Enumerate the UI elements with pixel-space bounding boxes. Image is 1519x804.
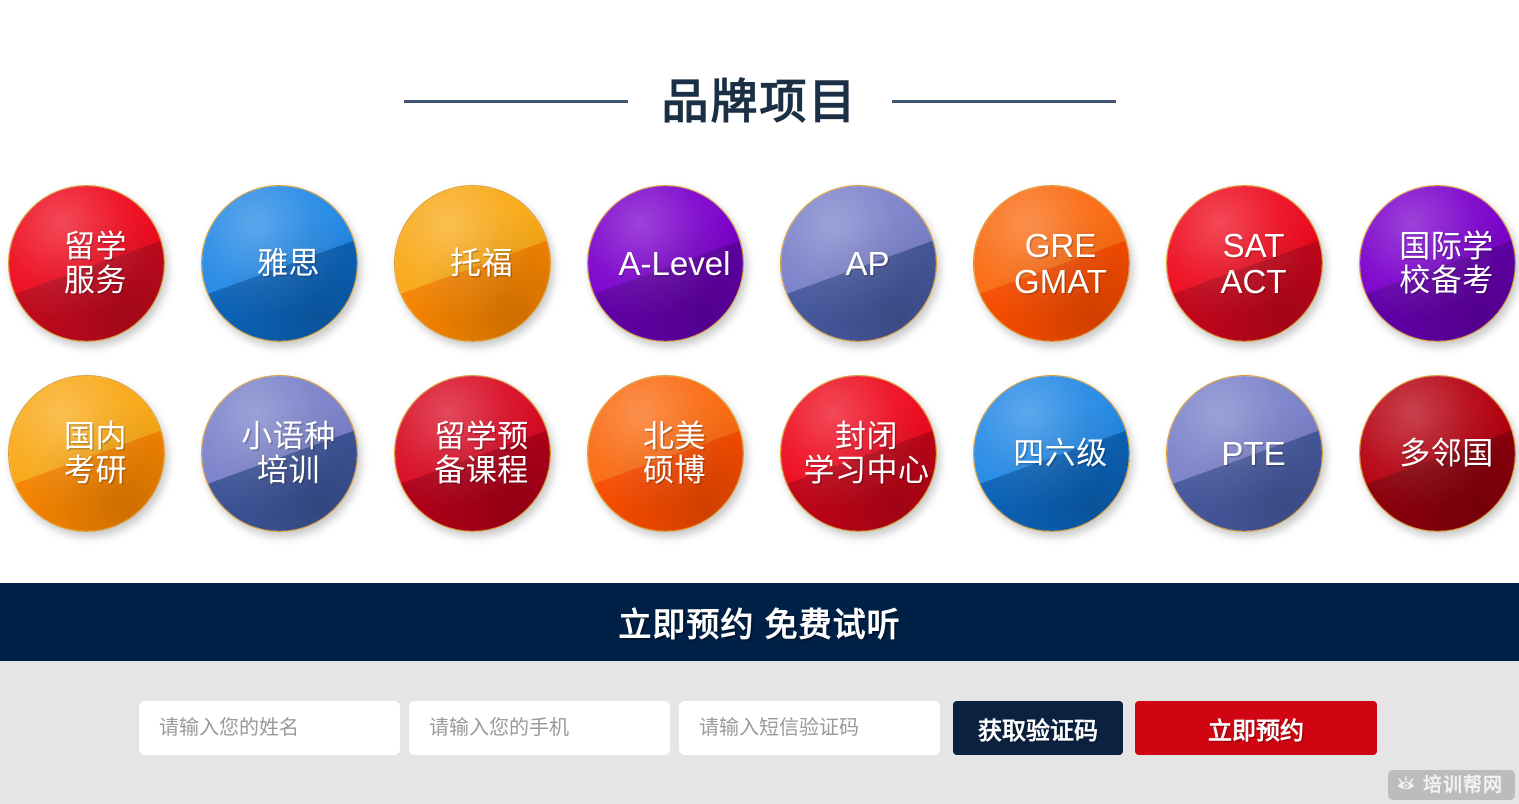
- program-cell: 留学 服务: [8, 185, 165, 375]
- site-watermark: 培训帮网: [1388, 770, 1515, 800]
- program-label: AP: [845, 246, 889, 282]
- program-circle-beimeishuobo[interactable]: 北美 硕博: [587, 375, 744, 532]
- program-label: 国际学 校备考: [1399, 230, 1494, 297]
- program-label: SAT ACT: [1221, 228, 1287, 299]
- program-circle-guoneikaoyan[interactable]: 国内 考研: [8, 375, 165, 532]
- program-label: 北美 硕博: [643, 420, 706, 487]
- program-row-2: 国内 考研 小语种 培训 留学预 备课程 北美 硕博: [8, 375, 1511, 565]
- program-label: 小语种 培训: [241, 420, 336, 487]
- phone-input[interactable]: [409, 701, 670, 755]
- submit-booking-button[interactable]: 立即预约: [1135, 701, 1377, 755]
- watermark-text: 培训帮网: [1423, 776, 1503, 795]
- program-cell: PTE: [1166, 375, 1323, 565]
- program-cell: 留学预 备课程: [394, 375, 551, 565]
- program-cell: 封闭 学习中心: [780, 375, 937, 565]
- program-label: 留学 服务: [64, 230, 127, 297]
- name-input[interactable]: [139, 701, 400, 755]
- program-circle-siliuji[interactable]: 四六级: [973, 375, 1130, 532]
- program-circle-tuofu[interactable]: 托福: [394, 185, 551, 342]
- program-cell: 四六级: [973, 375, 1130, 565]
- program-label: 四六级: [1013, 437, 1108, 470]
- program-cell: GRE GMAT: [973, 185, 1130, 375]
- booking-form-section: 获取验证码 立即预约: [0, 661, 1519, 804]
- cta-banner: 立即预约 免费试听: [0, 583, 1519, 661]
- program-circle-gre-gmat[interactable]: GRE GMAT: [973, 185, 1130, 342]
- eye-icon: [1396, 775, 1416, 795]
- program-circle-xiaoyuzhongpeixun[interactable]: 小语种 培训: [201, 375, 358, 532]
- program-grid: 留学 服务 雅思 托福 A-Level: [8, 185, 1511, 565]
- title-rule-right: [892, 100, 1116, 103]
- program-cell: 多邻国: [1359, 375, 1516, 565]
- program-cell: A-Level: [587, 185, 744, 375]
- program-cell: 国内 考研: [8, 375, 165, 565]
- program-cell: 北美 硕博: [587, 375, 744, 565]
- program-label: A-Level: [619, 246, 731, 282]
- booking-form: 获取验证码 立即预约: [139, 701, 1377, 755]
- program-circle-fengbixuexizhongxin[interactable]: 封闭 学习中心: [780, 375, 937, 532]
- program-circle-liuxueyubeikecheng[interactable]: 留学预 备课程: [394, 375, 551, 532]
- sms-code-input[interactable]: [679, 701, 940, 755]
- program-cell: AP: [780, 185, 937, 375]
- program-label: 国内 考研: [64, 420, 127, 487]
- program-circle-duolinguo[interactable]: 多邻国: [1359, 375, 1516, 532]
- program-label: PTE: [1221, 436, 1285, 472]
- program-cell: 国际学 校备考: [1359, 185, 1516, 375]
- program-label: 封闭 学习中心: [789, 420, 937, 487]
- program-circle-ap[interactable]: AP: [780, 185, 937, 342]
- page-title: 品牌项目: [628, 78, 892, 125]
- cta-banner-text: 立即预约 免费试听: [618, 598, 900, 646]
- program-circle-sat-act[interactable]: SAT ACT: [1166, 185, 1323, 342]
- program-cell: 托福: [394, 185, 551, 375]
- get-sms-code-button[interactable]: 获取验证码: [953, 701, 1123, 755]
- program-cell: 小语种 培训: [201, 375, 358, 565]
- program-circle-yasi[interactable]: 雅思: [201, 185, 358, 342]
- program-circle-a-level[interactable]: A-Level: [587, 185, 744, 342]
- program-label: 多邻国: [1399, 437, 1494, 470]
- program-circle-pte[interactable]: PTE: [1166, 375, 1323, 532]
- program-circle-guojixuexiaobeikao[interactable]: 国际学 校备考: [1359, 185, 1516, 342]
- program-circle-liuxuefuwu[interactable]: 留学 服务: [8, 185, 165, 342]
- program-cell: 雅思: [201, 185, 358, 375]
- title-rule-left: [404, 100, 628, 103]
- program-label: 托福: [450, 247, 513, 280]
- program-label: GRE GMAT: [1014, 228, 1107, 299]
- program-cell: SAT ACT: [1166, 185, 1323, 375]
- program-label: 留学预 备课程: [434, 420, 529, 487]
- section-header: 品牌项目: [0, 62, 1519, 140]
- program-label: 雅思: [257, 247, 320, 280]
- program-row-1: 留学 服务 雅思 托福 A-Level: [8, 185, 1511, 375]
